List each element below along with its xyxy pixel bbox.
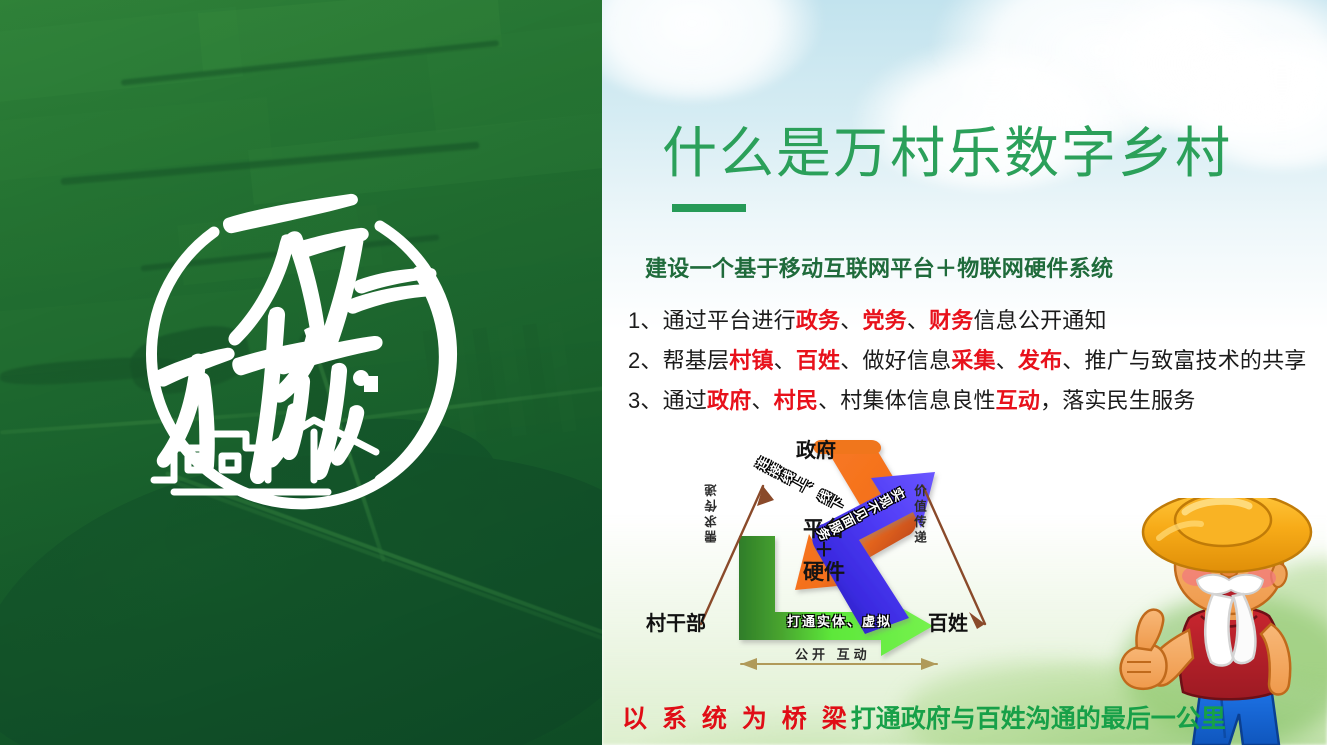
wancunle-logo (118, 180, 468, 530)
center-plus: ＋ (786, 541, 862, 560)
bullet-text: 通过 (663, 388, 707, 413)
diagram-outer-label-bottom: 公开 互动 (795, 644, 871, 663)
bullet-text: 帮基层 (663, 348, 730, 373)
bullet-highlight: 财务 (929, 308, 973, 333)
bullet-highlight: 党务 (862, 308, 906, 333)
bullet-item: 3、通过政府、村民、村集体信息良性互动，落实民生服务 (628, 390, 1327, 412)
bullet-text: 、推广与致富技术的共享 (1062, 348, 1306, 373)
bullet-text: ，落实民生服务 (1040, 388, 1195, 413)
bullet-highlight: 村民 (774, 388, 818, 413)
bullet-text: 、 (774, 348, 796, 373)
bullet-text: 、 (751, 388, 773, 413)
slogan-red-part: 以 系 统 为 桥 梁 (622, 705, 851, 733)
center-line-2: 硬件 (803, 561, 845, 584)
bullet-text: 、 (907, 308, 929, 333)
page-title: 什么是万村乐数字乡村 (662, 126, 1232, 181)
diagram-outer-label-left: 需求传递 (702, 481, 721, 543)
title-underline (672, 204, 746, 212)
bullet-highlight: 村镇 (729, 348, 773, 373)
bullet-text: 、做好信息 (840, 348, 951, 373)
left-image-panel (0, 0, 602, 745)
bullet-number: 3、 (628, 388, 663, 413)
bullet-item: 1、通过平台进行政务、党务、财务信息公开通知 (628, 310, 1327, 332)
diagram-node-government: 政府 (796, 434, 836, 463)
subtitle: 建设一个基于移动互联网平台＋物联网硬件系统 (645, 251, 1113, 283)
bullet-highlight: 政务 (796, 308, 840, 333)
diagram-outer-label-right: 价值传递 (910, 484, 929, 546)
bullet-highlight: 互动 (996, 388, 1040, 413)
bullet-text: 信息公开通知 (973, 308, 1106, 333)
bullet-item: 2、帮基层村镇、百姓、做好信息采集、发布、推广与致富技术的共享 (628, 350, 1327, 372)
bullet-text: 、 (996, 348, 1018, 373)
bullet-highlight: 百姓 (796, 348, 840, 373)
slogan-green-part: 打通政府与百姓沟通的最后一公里 (851, 705, 1226, 733)
bullet-number: 2、 (628, 348, 663, 373)
bullet-text: 、村集体信息良性 (818, 388, 996, 413)
bullet-highlight: 政府 (707, 388, 751, 413)
bullet-highlight: 发布 (1018, 348, 1062, 373)
diagram-arrow-label-green: 打通实体、虚拟 (787, 611, 892, 630)
bottom-slogan: 以 系 统 为 桥 梁打通政府与百姓沟通的最后一公里 (622, 707, 1226, 732)
bullet-number: 1、 (628, 308, 663, 333)
bullet-highlight: 采集 (951, 348, 995, 373)
slide-root: 什么是万村乐数字乡村 建设一个基于移动互联网平台＋物联网硬件系统 1、通过平台进… (0, 0, 1327, 745)
bullet-text: 通过平台进行 (663, 308, 796, 333)
bullet-text: 、 (840, 308, 862, 333)
diagram-node-cadre: 村干部 (646, 607, 706, 636)
bullet-list: 1、通过平台进行政务、党务、财务信息公开通知2、帮基层村镇、百姓、做好信息采集、… (628, 310, 1327, 430)
diagram-node-people: 百姓 (928, 607, 968, 636)
